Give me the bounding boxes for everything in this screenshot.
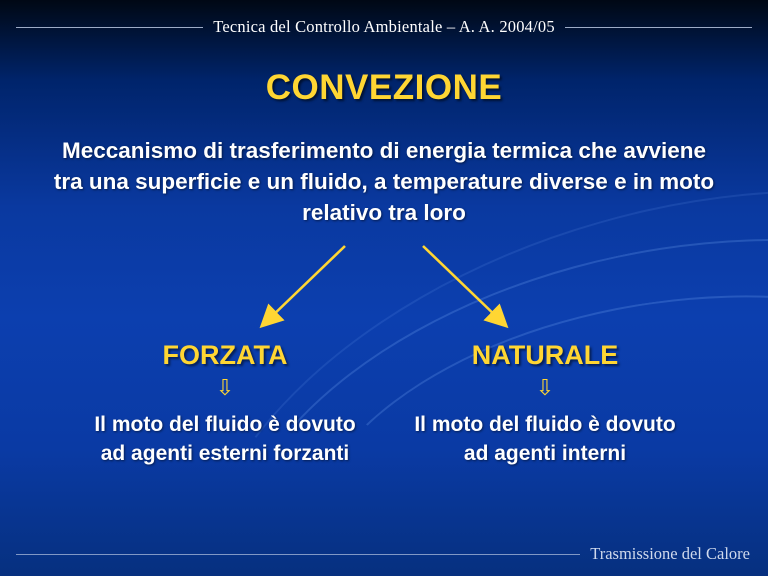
diagonal-arrow-down-right-icon xyxy=(423,246,500,320)
branch-forzata: FORZATA ⇩ Il moto del fluido è dovuto ad… xyxy=(80,340,370,469)
branch-title: NATURALE xyxy=(400,340,690,371)
down-arrow-icon: ⇩ xyxy=(400,377,690,399)
slide-title: CONVEZIONE xyxy=(0,68,768,108)
branch-description: Il moto del fluido è dovuto ad agenti es… xyxy=(80,411,370,469)
header-rule-right xyxy=(565,27,752,28)
footer-subject-label: Trasmissione del Calore xyxy=(590,544,750,564)
header-course-title: Tecnica del Controllo Ambientale – A. A.… xyxy=(213,17,555,37)
slide-header: Tecnica del Controllo Ambientale – A. A.… xyxy=(0,16,768,38)
branch-connectors xyxy=(0,238,768,338)
header-rule-left xyxy=(16,27,203,28)
branch-title: FORZATA xyxy=(80,340,370,371)
footer-rule xyxy=(16,554,580,555)
branch-naturale: NATURALE ⇩ Il moto del fluido è dovuto a… xyxy=(400,340,690,469)
diagonal-arrow-down-left-icon xyxy=(268,246,345,320)
slide-subtitle: Meccanismo di trasferimento di energia t… xyxy=(50,135,718,228)
slide: Tecnica del Controllo Ambientale – A. A.… xyxy=(0,0,768,576)
slide-footer: Trasmissione del Calore xyxy=(0,542,768,566)
branch-description: Il moto del fluido è dovuto ad agenti in… xyxy=(400,411,690,469)
down-arrow-icon: ⇩ xyxy=(80,377,370,399)
